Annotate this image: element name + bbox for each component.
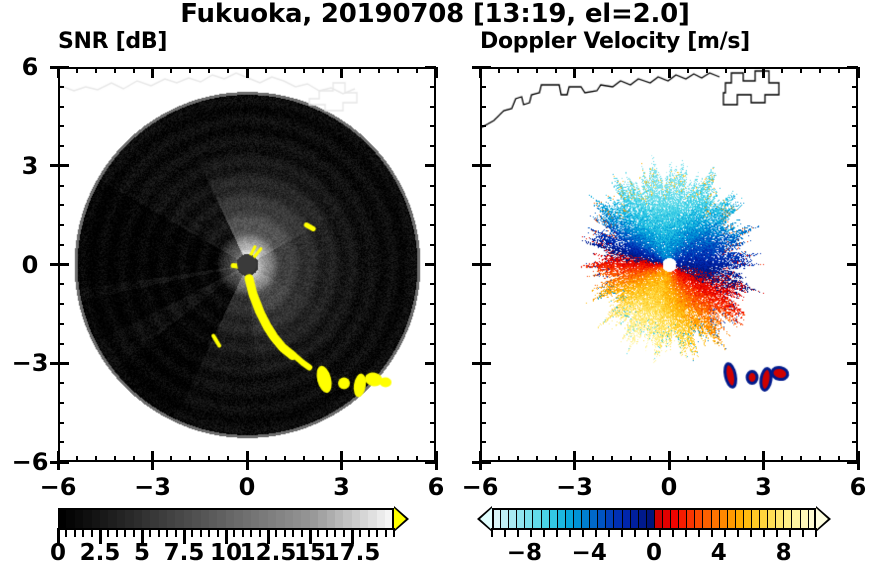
colorbar-tick	[737, 528, 739, 537]
axis-tick	[762, 67, 765, 78]
axis-tick	[397, 456, 399, 462]
axis-tick	[852, 185, 858, 187]
axis-tick	[573, 451, 576, 462]
axis-tick	[706, 456, 708, 462]
colorbar-arrow-min	[480, 508, 492, 530]
axis-tick	[479, 67, 482, 78]
axis-tick	[430, 244, 436, 246]
axis-tick	[416, 67, 418, 73]
axis-tick	[649, 456, 651, 462]
axis-tick	[498, 456, 500, 462]
axis-tick	[57, 67, 60, 78]
colorbar-tick	[343, 528, 345, 537]
colorbar-tick-label: 5	[134, 540, 150, 566]
axis-tick	[847, 66, 858, 69]
axis-tick	[189, 67, 191, 73]
colorbar-tick	[107, 528, 109, 537]
axis-tick	[852, 204, 858, 206]
axis-tick	[425, 263, 436, 266]
axis-tick	[706, 67, 708, 73]
axis-tick	[480, 185, 486, 187]
axis-tick	[838, 67, 840, 73]
colorbar-tick	[763, 528, 765, 537]
axis-tick	[208, 456, 210, 462]
colorbar-tick	[698, 528, 700, 537]
axis-tick	[472, 263, 480, 266]
axis-tick	[725, 456, 727, 462]
xtick-label: 6	[428, 473, 445, 501]
axis-tick	[630, 456, 632, 462]
colorbar-tick	[233, 528, 235, 537]
axis-tick	[762, 451, 765, 462]
colorbar-tick	[74, 528, 76, 537]
ytick-label: 6	[22, 53, 39, 81]
axis-tick	[58, 164, 69, 167]
axis-tick	[430, 86, 436, 88]
ytick-label: −3	[12, 349, 49, 377]
colorbar-tick	[789, 528, 791, 537]
colorbar-tick	[259, 528, 261, 537]
axis-tick	[189, 456, 191, 462]
colorbar-tick	[217, 528, 219, 537]
axis-tick	[58, 382, 64, 384]
axis-tick	[322, 67, 324, 73]
colorbar-tick	[393, 528, 395, 537]
colorbar-tick	[517, 528, 519, 537]
axis-tick	[480, 422, 486, 424]
colorbar-tick	[582, 528, 584, 537]
axis-tick	[800, 67, 802, 73]
colorbar-tick-label: 15	[294, 540, 326, 566]
axis-tick	[611, 456, 613, 462]
axis-tick	[95, 456, 97, 462]
axis-tick	[480, 441, 486, 443]
colorbar-tick	[621, 528, 623, 537]
axis-tick	[227, 67, 229, 73]
colorbar-frame	[492, 508, 816, 530]
axis-tick	[573, 67, 576, 78]
axis-tick	[50, 362, 58, 365]
axis-tick	[58, 283, 64, 285]
axis-tick	[58, 86, 64, 88]
axis-tick	[50, 164, 58, 167]
colorbar-arrow-max	[394, 508, 406, 530]
axis-tick	[744, 456, 746, 462]
axis-tick	[425, 164, 436, 167]
colorbar-tick-label: −4	[572, 540, 607, 566]
axis-tick	[480, 66, 491, 69]
colorbar-tick	[191, 528, 193, 537]
axis-tick	[435, 67, 438, 78]
axis-tick	[430, 422, 436, 424]
colorbar-tick	[91, 528, 93, 537]
axis-tick	[397, 67, 399, 73]
axis-tick	[430, 402, 436, 404]
axis-tick	[425, 362, 436, 365]
axis-tick	[847, 263, 858, 266]
colorbar-tick-label: 10	[210, 540, 242, 566]
axis-tick	[649, 67, 651, 73]
axis-tick	[852, 125, 858, 127]
doppler-canvas	[482, 69, 856, 460]
colorbar-tick	[200, 528, 202, 537]
panel-title-doppler: Doppler Velocity [m/s]	[480, 29, 750, 54]
panel-title-snr: SNR [dB]	[58, 29, 167, 54]
colorbar-tick	[685, 528, 687, 537]
xtick-label: −3	[556, 473, 593, 501]
axis-tick	[852, 441, 858, 443]
axis-tick	[227, 456, 229, 462]
axis-tick	[687, 456, 689, 462]
ytick-label: −6	[12, 448, 49, 476]
colorbar-tick	[158, 528, 160, 537]
colorbar-tick	[711, 528, 713, 537]
axis-tick	[592, 456, 594, 462]
axis-tick	[573, 462, 576, 470]
doppler-colorbar[interactable]	[480, 508, 828, 530]
axis-tick	[170, 67, 172, 73]
axis-tick	[480, 362, 491, 365]
axis-tick	[781, 67, 783, 73]
axis-tick	[430, 283, 436, 285]
axis-tick	[857, 462, 860, 470]
colorbar-tick	[556, 528, 558, 537]
axis-tick	[480, 106, 486, 108]
axis-tick	[151, 67, 154, 78]
axis-tick	[480, 244, 486, 246]
axis-tick	[58, 125, 64, 127]
xtick-label: 6	[850, 473, 867, 501]
axis-tick	[50, 66, 58, 69]
axis-tick	[592, 67, 594, 73]
axis-tick	[480, 263, 491, 266]
colorbar-tick	[65, 528, 67, 537]
colorbar-tick-label: 12.5	[240, 540, 297, 566]
colorbar-tick	[317, 528, 319, 537]
colorbar-tick	[530, 528, 532, 537]
plot-panel-doppler[interactable]	[480, 67, 858, 462]
axis-tick	[284, 456, 286, 462]
axis-tick	[58, 244, 64, 246]
axis-tick	[58, 204, 64, 206]
colorbar-tick	[208, 528, 210, 537]
axis-tick	[744, 67, 746, 73]
axis-tick	[284, 67, 286, 73]
colorbar-tick	[802, 528, 804, 537]
colorbar-tick	[334, 528, 336, 537]
colorbar-tick-label: −8	[507, 540, 542, 566]
plot-panel-snr[interactable]	[58, 67, 436, 462]
axis-tick	[819, 456, 821, 462]
axis-tick	[852, 224, 858, 226]
axis-tick	[800, 456, 802, 462]
axis-tick	[114, 67, 116, 73]
axis-tick	[133, 67, 135, 73]
axis-tick	[480, 224, 486, 226]
axis-tick	[359, 67, 361, 73]
axis-tick	[58, 441, 64, 443]
axis-tick	[668, 462, 671, 470]
axis-tick	[58, 66, 69, 69]
axis-tick	[340, 462, 343, 470]
colorbar-tick	[116, 528, 118, 537]
colorbar-frame	[58, 508, 394, 530]
axis-tick	[472, 164, 480, 167]
axis-tick	[76, 456, 78, 462]
ytick-label: 3	[22, 152, 39, 180]
axis-tick	[58, 402, 64, 404]
colorbar-tick-label: 4	[711, 540, 727, 566]
axis-tick	[430, 303, 436, 305]
colorbar-tick	[634, 528, 636, 537]
colorbar-tick	[242, 528, 244, 537]
axis-tick	[480, 382, 486, 384]
axis-tick	[852, 422, 858, 424]
axis-tick	[430, 323, 436, 325]
axis-tick	[58, 323, 64, 325]
colorbar-tick	[659, 528, 661, 537]
axis-tick	[58, 145, 64, 147]
xtick-label: 3	[333, 473, 350, 501]
axis-tick	[246, 451, 249, 462]
axis-tick	[322, 456, 324, 462]
colorbar-tick-label: 0	[646, 540, 662, 566]
axis-tick	[472, 362, 480, 365]
axis-tick	[151, 462, 154, 470]
axis-tick	[246, 67, 249, 78]
axis-tick	[430, 125, 436, 127]
colorbar-tick	[133, 528, 135, 537]
axis-tick	[425, 66, 436, 69]
colorbar-tick	[504, 528, 506, 537]
xtick-label: 3	[755, 473, 772, 501]
axis-tick	[378, 456, 380, 462]
axis-tick	[480, 283, 486, 285]
axis-tick	[852, 145, 858, 147]
axis-tick	[416, 456, 418, 462]
axis-tick	[265, 67, 267, 73]
axis-tick	[852, 402, 858, 404]
axis-tick	[378, 67, 380, 73]
doppler-ppi-image	[482, 69, 856, 460]
axis-tick	[480, 343, 486, 345]
colorbar-tick-label: 8	[776, 540, 792, 566]
axis-tick	[668, 451, 671, 462]
axis-tick	[58, 362, 69, 365]
axis-tick	[555, 456, 557, 462]
axis-tick	[50, 461, 58, 464]
colorbar-tick	[275, 528, 277, 537]
colorbar-tick-label: 0	[50, 540, 66, 566]
colorbar-tick	[149, 528, 151, 537]
axis-tick	[687, 67, 689, 73]
axis-tick	[852, 343, 858, 345]
axis-tick	[480, 204, 486, 206]
snr-canvas	[60, 69, 434, 460]
colorbar-tick	[292, 528, 294, 537]
xtick-label: −6	[462, 473, 499, 501]
axis-tick	[838, 456, 840, 462]
axis-tick	[480, 86, 486, 88]
axis-tick	[611, 67, 613, 73]
axis-tick	[58, 461, 69, 464]
axis-tick	[852, 382, 858, 384]
axis-tick	[480, 125, 486, 127]
axis-tick	[58, 422, 64, 424]
axis-tick	[58, 185, 64, 187]
axis-tick	[50, 263, 58, 266]
xtick-label: −3	[134, 473, 171, 501]
axis-tick	[847, 362, 858, 365]
axis-tick	[480, 145, 486, 147]
axis-tick	[58, 343, 64, 345]
colorbar-tick	[724, 528, 726, 537]
axis-tick	[762, 462, 765, 470]
snr-ppi-image	[60, 69, 434, 460]
colorbar-tick	[543, 528, 545, 537]
ytick-label: 0	[22, 251, 39, 279]
axis-tick	[852, 323, 858, 325]
axis-tick	[536, 456, 538, 462]
colorbar-tick	[776, 528, 778, 537]
colorbar-tick	[491, 528, 493, 537]
axis-tick	[781, 456, 783, 462]
axis-tick	[517, 67, 519, 73]
axis-tick	[95, 67, 97, 73]
axis-tick	[303, 67, 305, 73]
axis-tick	[430, 106, 436, 108]
axis-tick	[359, 456, 361, 462]
colorbar-tick	[608, 528, 610, 537]
axis-tick	[480, 323, 486, 325]
axis-tick	[498, 67, 500, 73]
colorbar-tick	[301, 528, 303, 537]
axis-tick	[430, 224, 436, 226]
colorbar-tick	[124, 528, 126, 537]
axis-tick	[430, 204, 436, 206]
figure-suptitle: Fukuoka, 20190708 [13:19, el=2.0]	[0, 0, 870, 29]
colorbar-tick	[82, 528, 84, 537]
axis-tick	[480, 303, 486, 305]
colorbar-tick	[359, 528, 361, 537]
colorbar-tick	[385, 528, 387, 537]
colorbar-tick	[595, 528, 597, 537]
axis-tick	[58, 106, 64, 108]
axis-tick	[852, 244, 858, 246]
axis-tick	[430, 185, 436, 187]
axis-tick	[857, 67, 860, 78]
axis-tick	[725, 67, 727, 73]
figure: Fukuoka, 20190708 [13:19, el=2.0] SNR [d…	[0, 0, 870, 570]
colorbar-tick	[569, 528, 571, 537]
xtick-label: 0	[661, 473, 678, 501]
axis-tick	[668, 67, 671, 78]
axis-tick	[480, 164, 491, 167]
xtick-label: 0	[239, 473, 256, 501]
colorbar-tick	[647, 528, 649, 537]
axis-tick	[472, 461, 480, 464]
axis-tick	[852, 106, 858, 108]
axis-tick	[517, 456, 519, 462]
colorbar-tick	[250, 528, 252, 537]
axis-tick	[114, 456, 116, 462]
axis-tick	[265, 456, 267, 462]
snr-colorbar[interactable]	[58, 508, 406, 530]
axis-tick	[133, 456, 135, 462]
axis-tick	[536, 67, 538, 73]
axis-tick	[58, 224, 64, 226]
axis-tick	[852, 86, 858, 88]
axis-tick	[480, 461, 491, 464]
axis-tick	[151, 451, 154, 462]
colorbar-tick-label: 17.5	[324, 540, 381, 566]
colorbar-tick	[672, 528, 674, 537]
axis-tick	[847, 164, 858, 167]
colorbar-tick	[166, 528, 168, 537]
xtick-label: −6	[40, 473, 77, 501]
axis-tick	[303, 456, 305, 462]
colorbar-tick	[175, 528, 177, 537]
axis-tick	[340, 67, 343, 78]
axis-tick	[852, 303, 858, 305]
axis-tick	[435, 451, 438, 462]
axis-tick	[430, 441, 436, 443]
axis-tick	[430, 145, 436, 147]
colorbar-tick	[376, 528, 378, 537]
axis-tick	[170, 456, 172, 462]
axis-tick	[480, 402, 486, 404]
colorbar-tick	[368, 528, 370, 537]
axis-tick	[555, 67, 557, 73]
axis-tick	[819, 67, 821, 73]
axis-tick	[430, 343, 436, 345]
axis-tick	[58, 303, 64, 305]
axis-tick	[857, 451, 860, 462]
colorbar-tick	[750, 528, 752, 537]
axis-tick	[630, 67, 632, 73]
axis-tick	[58, 263, 69, 266]
axis-tick	[435, 462, 438, 470]
colorbar-tick-label: 2.5	[80, 540, 121, 566]
colorbar-tick	[815, 528, 817, 537]
colorbar-arrow-max	[816, 508, 828, 530]
axis-tick	[430, 382, 436, 384]
axis-tick	[340, 451, 343, 462]
axis-tick	[852, 283, 858, 285]
colorbar-tick	[326, 528, 328, 537]
axis-tick	[208, 67, 210, 73]
colorbar-tick	[284, 528, 286, 537]
axis-tick	[76, 67, 78, 73]
axis-tick	[246, 462, 249, 470]
axis-tick	[472, 66, 480, 69]
colorbar-tick-label: 7.5	[164, 540, 205, 566]
